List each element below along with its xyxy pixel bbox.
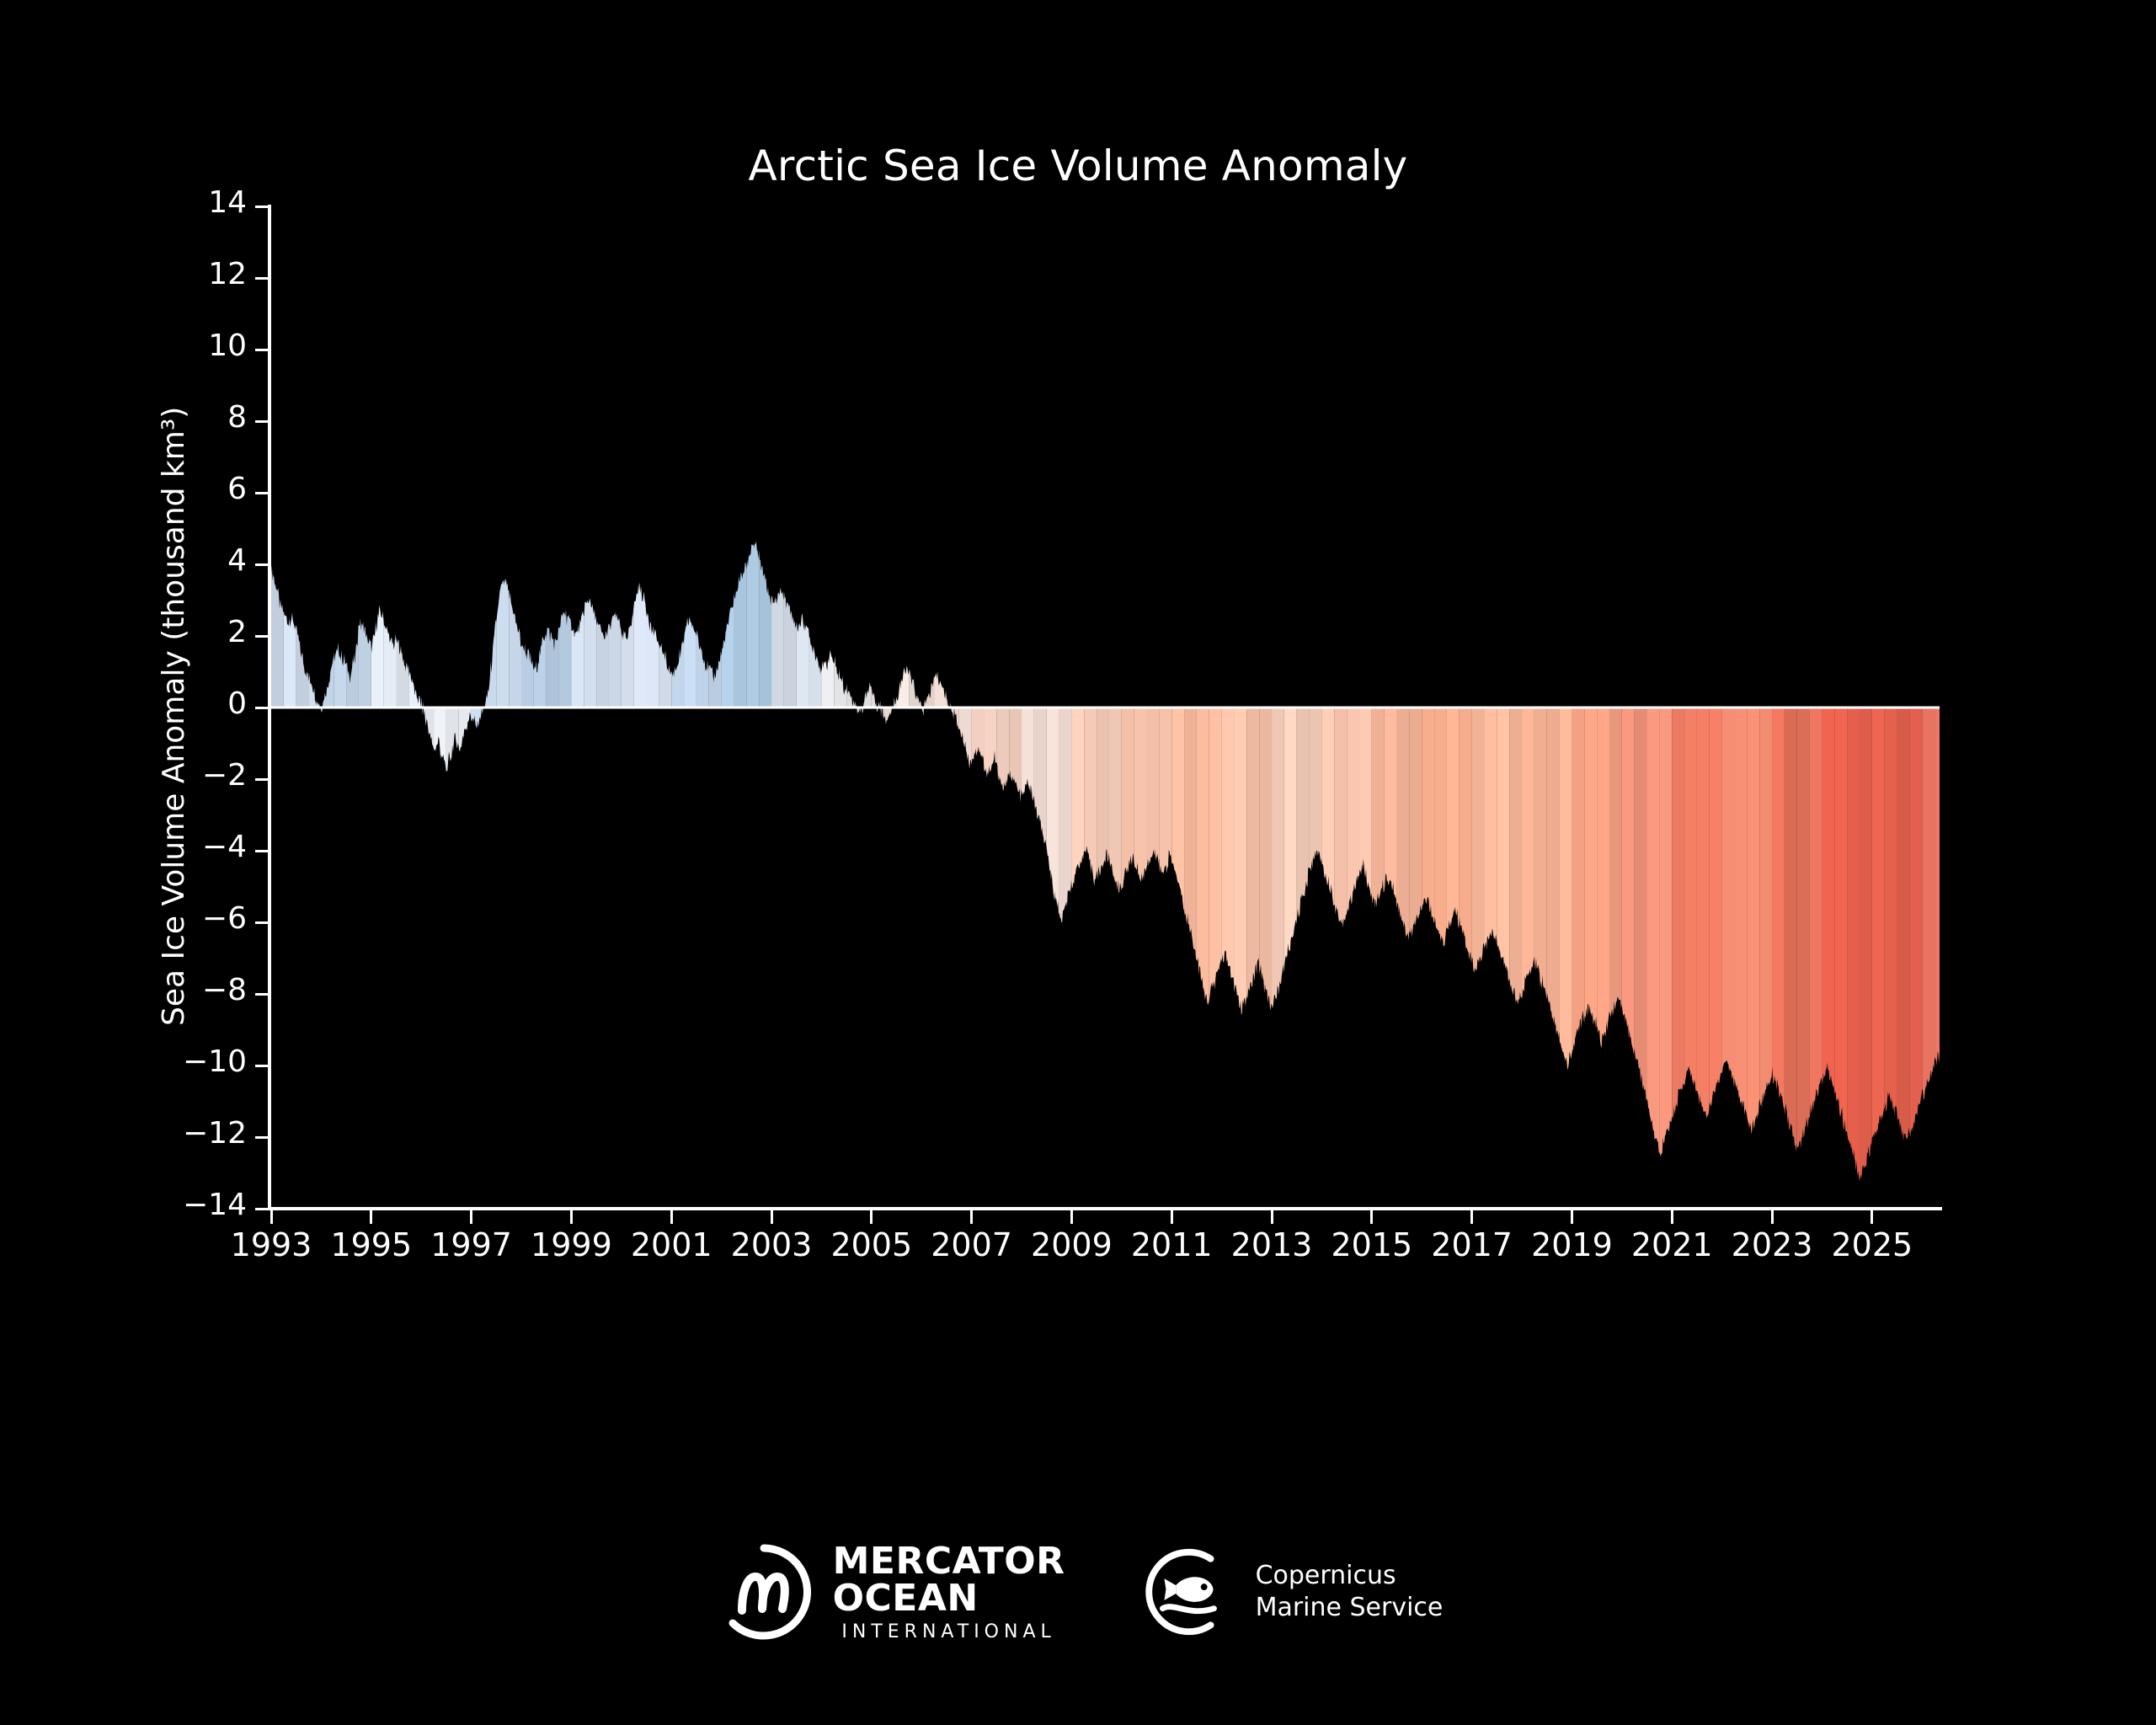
x-tick-mark bbox=[1171, 1210, 1173, 1224]
x-tick-mark bbox=[670, 1210, 673, 1224]
x-tick-mark bbox=[771, 1210, 773, 1224]
x-tick-mark bbox=[1070, 1210, 1073, 1224]
y-tick-label: 2 bbox=[227, 615, 247, 649]
y-tick-mark bbox=[255, 921, 269, 924]
x-tick-mark bbox=[1271, 1210, 1273, 1224]
y-tick-label: −4 bbox=[202, 830, 247, 864]
y-tick-label: 14 bbox=[208, 185, 247, 220]
anomaly-area-chart bbox=[271, 206, 1942, 1209]
y-tick-label: 6 bbox=[227, 472, 247, 506]
mercator-line1: MERCATOR bbox=[833, 1543, 1065, 1580]
y-tick-label: −14 bbox=[183, 1188, 247, 1222]
y-tick-label: 4 bbox=[227, 543, 247, 578]
y-tick-mark bbox=[255, 635, 269, 638]
y-tick-mark bbox=[255, 1208, 269, 1210]
page-title: Arctic Sea Ice Volume Anomaly bbox=[0, 142, 2156, 190]
y-tick-label: −10 bbox=[183, 1044, 247, 1079]
y-tick-label: −12 bbox=[183, 1116, 247, 1151]
mercator-line3: INTERNATIONAL bbox=[833, 1623, 1065, 1642]
y-tick-label: −8 bbox=[202, 973, 247, 1007]
x-tick-mark bbox=[1671, 1210, 1673, 1224]
x-tick-mark bbox=[270, 1210, 273, 1224]
y-tick-mark bbox=[255, 349, 269, 351]
footer-logos: MERCATOR OCEAN INTERNATIONAL Copernicus … bbox=[0, 1520, 2156, 1664]
copernicus-line2: Marine Service bbox=[1256, 1592, 1444, 1624]
y-tick-mark bbox=[255, 277, 269, 280]
y-tick-mark bbox=[255, 707, 269, 709]
y-tick-mark bbox=[255, 420, 269, 423]
y-tick-mark bbox=[255, 850, 269, 852]
fish-circle-icon bbox=[1138, 1542, 1237, 1642]
mercator-line2: OCEAN bbox=[833, 1580, 1065, 1617]
x-tick-mark bbox=[970, 1210, 973, 1224]
plot-area bbox=[271, 206, 1942, 1209]
y-tick-mark bbox=[255, 1065, 269, 1067]
y-axis-label: Sea Ice Volume Anomaly (thousand km³) bbox=[157, 407, 191, 1026]
y-tick-mark bbox=[255, 1136, 269, 1139]
y-tick-mark bbox=[255, 993, 269, 996]
x-tick-mark bbox=[1571, 1210, 1573, 1224]
copernicus-line1: Copernicus bbox=[1256, 1560, 1444, 1592]
y-tick-label: −2 bbox=[202, 758, 247, 793]
x-tick-mark bbox=[370, 1210, 372, 1224]
x-tick-mark bbox=[870, 1210, 873, 1224]
y-tick-label: 12 bbox=[208, 257, 247, 291]
y-tick-label: 10 bbox=[208, 328, 247, 363]
x-tick-mark bbox=[1370, 1210, 1373, 1224]
y-tick-label: 0 bbox=[227, 686, 247, 721]
x-tick-mark bbox=[1870, 1210, 1873, 1224]
y-tick-label: 8 bbox=[227, 400, 247, 435]
x-tick-label: 2025 bbox=[1805, 1226, 1940, 1263]
mercator-ocean-logo: MERCATOR OCEAN INTERNATIONAL bbox=[713, 1541, 1065, 1642]
x-tick-mark bbox=[1470, 1210, 1473, 1224]
x-tick-mark bbox=[1771, 1210, 1774, 1224]
y-tick-label: −6 bbox=[202, 901, 247, 936]
copernicus-marine-logo: Copernicus Marine Service bbox=[1138, 1542, 1444, 1642]
y-tick-mark bbox=[255, 492, 269, 494]
y-tick-mark bbox=[255, 563, 269, 566]
figure-canvas: Arctic Sea Ice Volume Anomaly 1412108642… bbox=[0, 0, 2156, 1725]
y-tick-mark bbox=[255, 206, 269, 208]
x-axis-spine bbox=[268, 1207, 1942, 1210]
x-tick-mark bbox=[470, 1210, 472, 1224]
circle-m-icon bbox=[713, 1541, 814, 1642]
y-tick-mark bbox=[255, 778, 269, 781]
x-tick-mark bbox=[570, 1210, 573, 1224]
